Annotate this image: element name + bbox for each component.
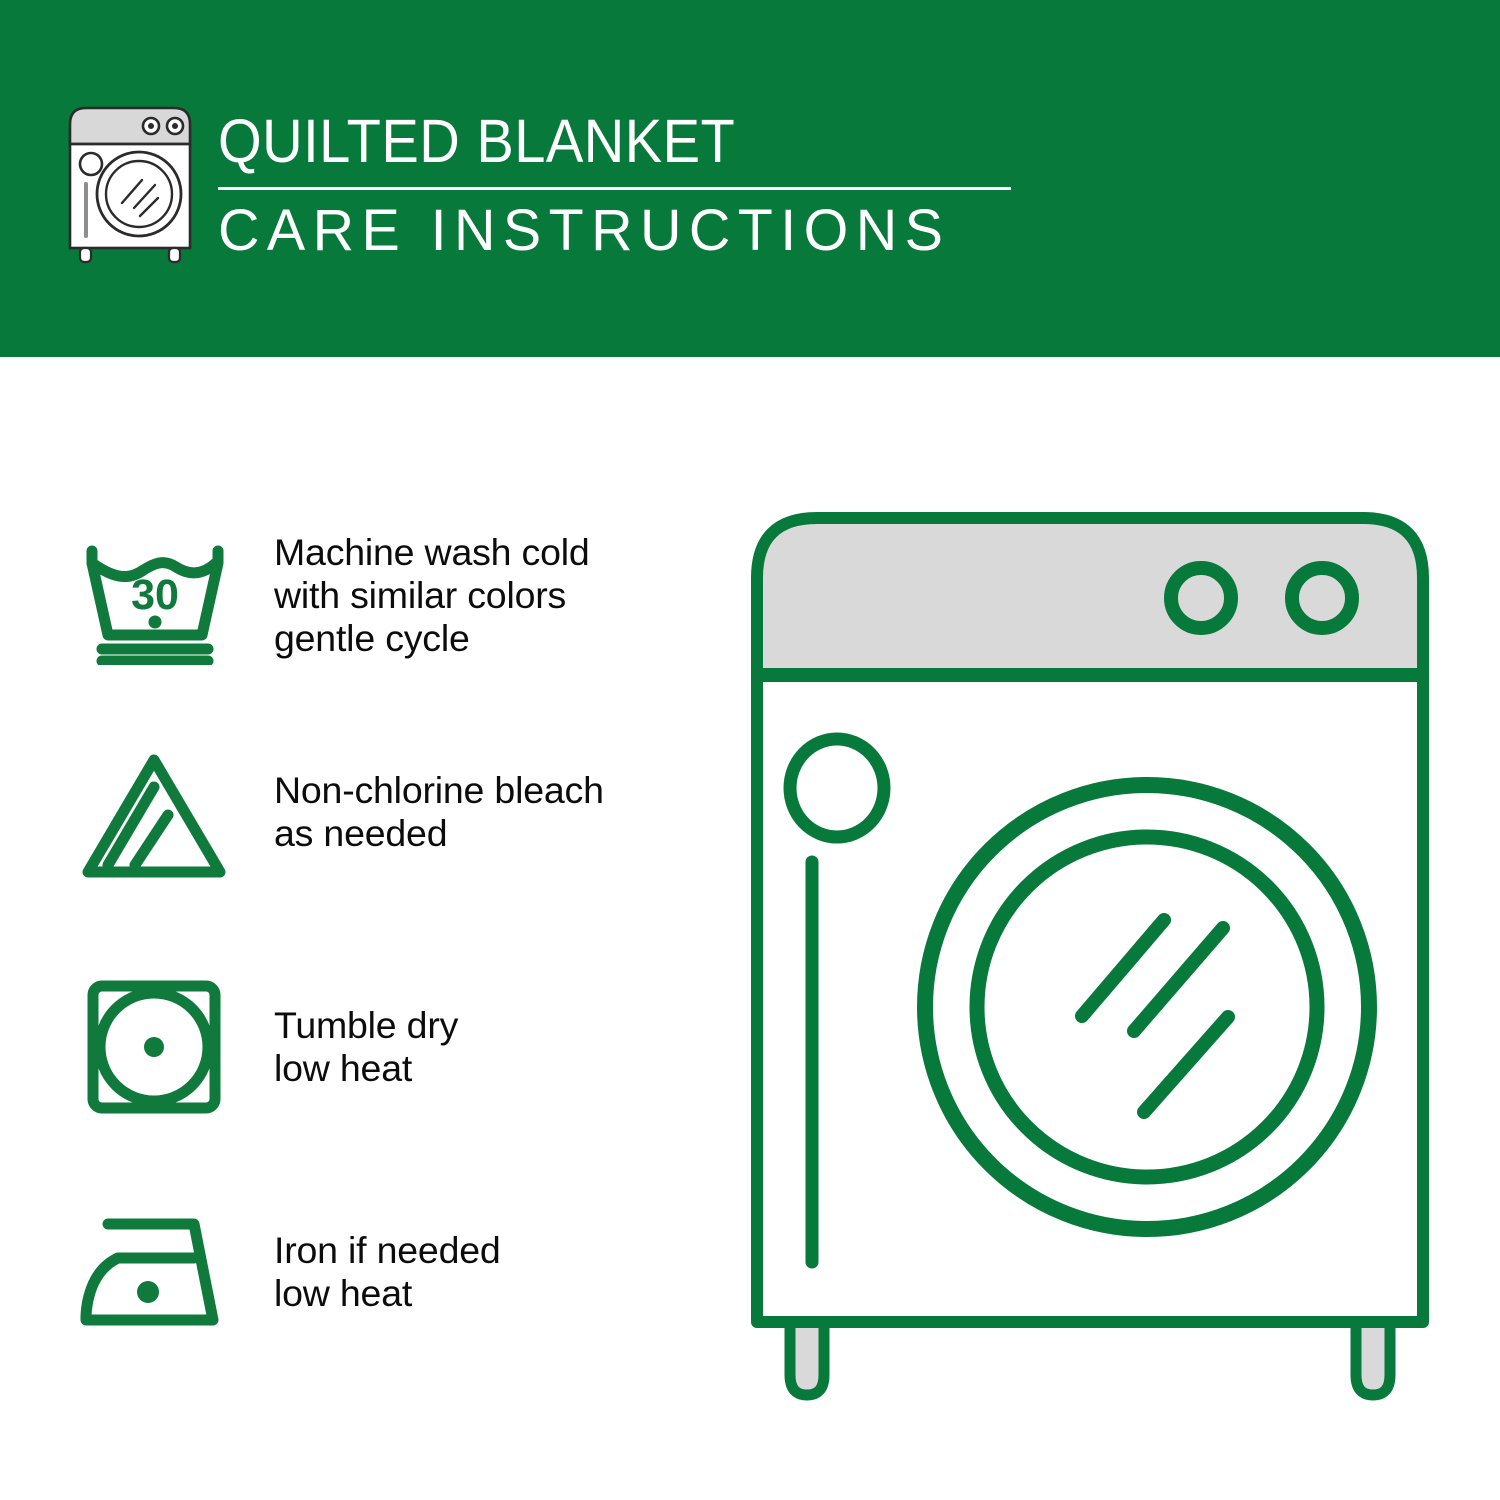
care-instructions-page: QUILTED BLANKET CARE INSTRUCTIONS xyxy=(0,0,1500,1500)
care-text-tumble-dry: Tumble dry low heat xyxy=(274,1004,458,1090)
care-text-bleach: Non-chlorine bleach as needed xyxy=(274,769,604,855)
wash-tub-30-gentle-icon: 30 xyxy=(72,525,242,665)
care-text-machine-wash: Machine wash cold with similar colors ge… xyxy=(274,531,590,660)
care-text-line: with similar colors xyxy=(274,574,590,617)
care-text-line: as needed xyxy=(274,812,604,855)
washing-machine-logo-icon xyxy=(62,104,198,264)
header-banner: QUILTED BLANKET CARE INSTRUCTIONS xyxy=(0,0,1500,357)
care-row-machine-wash: 30 Machine wash cold with similar colors… xyxy=(72,525,712,665)
care-text-line: Machine wash cold xyxy=(274,531,590,574)
care-text-line: gentle cycle xyxy=(274,617,590,660)
header-title-block: QUILTED BLANKET CARE INSTRUCTIONS xyxy=(218,104,1028,266)
tumble-dry-low-icon xyxy=(72,977,242,1117)
care-row-tumble-dry: Tumble dry low heat xyxy=(72,977,712,1117)
care-instruction-list: 30 Machine wash cold with similar colors… xyxy=(0,357,720,1500)
title-divider xyxy=(218,187,1011,190)
care-text-iron: Iron if needed low heat xyxy=(274,1229,501,1315)
care-text-line: low heat xyxy=(274,1272,501,1315)
care-text-line: low heat xyxy=(274,1047,458,1090)
iron-low-heat-icon xyxy=(72,1202,242,1342)
page-subtitle: CARE INSTRUCTIONS xyxy=(218,197,1020,265)
care-row-bleach: Non-chlorine bleach as needed xyxy=(72,742,712,882)
care-text-line: Non-chlorine bleach xyxy=(274,769,604,812)
care-text-line: Iron if needed xyxy=(274,1229,501,1272)
wash-temperature-value: 30 xyxy=(131,571,179,619)
non-chlorine-bleach-triangle-icon xyxy=(72,742,242,882)
washing-machine-illustration xyxy=(745,500,1455,1430)
care-row-iron: Iron if needed low heat xyxy=(72,1202,712,1342)
page-title: QUILTED BLANKET xyxy=(218,104,963,178)
care-text-line: Tumble dry xyxy=(274,1004,458,1047)
washer-control-panel xyxy=(757,518,1423,675)
